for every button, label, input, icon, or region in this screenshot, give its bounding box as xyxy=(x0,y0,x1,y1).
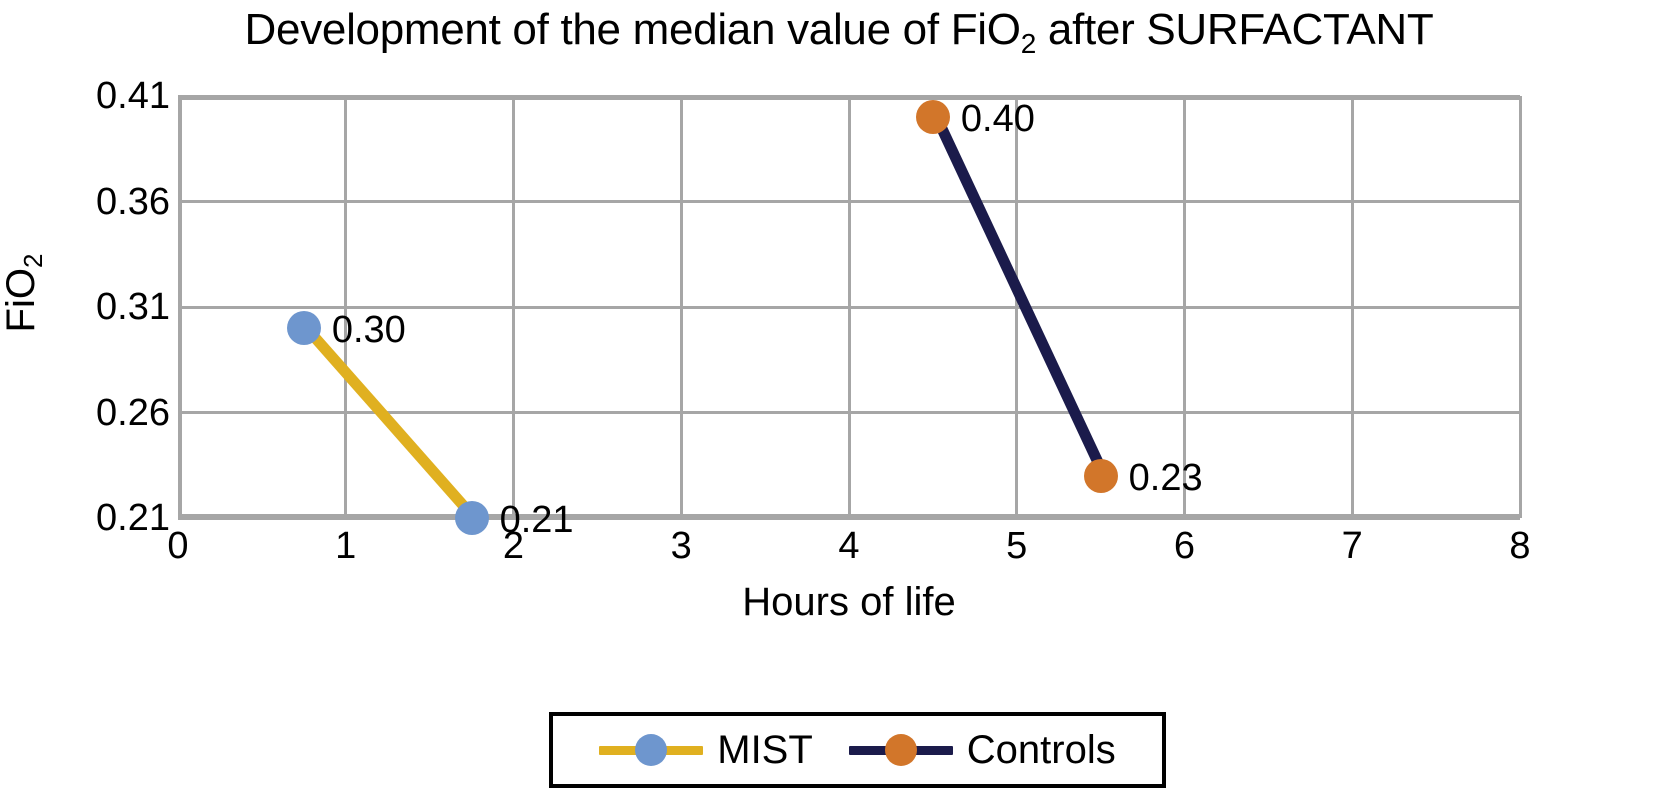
x-axis-tick-label: 4 xyxy=(809,524,889,568)
plot-area: 0.300.210.400.23 xyxy=(178,96,1520,518)
y-axis-tick-label: 0.31 xyxy=(10,285,170,329)
chart-title-prefix: Development of the median value of FiO xyxy=(245,5,1021,54)
x-axis-tick-label: 8 xyxy=(1480,524,1560,568)
legend-label: Controls xyxy=(967,727,1116,773)
data-point-marker-controls xyxy=(1084,459,1118,493)
data-point-label: 0.40 xyxy=(961,97,1035,141)
x-axis-tick-label: 6 xyxy=(1145,524,1225,568)
x-axis-tick-label: 0 xyxy=(138,524,218,568)
chart-title: Development of the median value of FiO2 … xyxy=(0,2,1678,63)
data-point-marker-mist xyxy=(287,311,321,345)
legend-marker-icon xyxy=(885,734,917,766)
legend-item-controls[interactable]: Controls xyxy=(849,727,1116,773)
chart-title-suffix: after SURFACTANT xyxy=(1036,5,1433,54)
x-axis-tick-label: 2 xyxy=(474,524,554,568)
y-axis-tick-label: 0.36 xyxy=(10,180,170,224)
legend-swatch-icon xyxy=(599,732,703,768)
x-axis-tick-label: 3 xyxy=(641,524,721,568)
x-axis-tick-label: 7 xyxy=(1312,524,1392,568)
legend-label: MIST xyxy=(717,727,813,773)
y-axis-tick-label: 0.41 xyxy=(10,74,170,118)
legend-marker-icon xyxy=(635,734,667,766)
chart-title-subscript: 2 xyxy=(1021,28,1036,59)
y-axis-line xyxy=(178,96,182,518)
gridline-horizontal xyxy=(178,200,1520,203)
y-axis-tick-label: 0.26 xyxy=(10,391,170,435)
legend-swatch-icon xyxy=(849,732,953,768)
x-axis-tick-label: 5 xyxy=(977,524,1057,568)
chart-figure: Development of the median value of FiO2 … xyxy=(0,0,1678,800)
chart-legend: MISTControls xyxy=(549,712,1166,788)
data-point-label: 0.30 xyxy=(332,308,406,352)
data-point-marker-controls xyxy=(916,100,950,134)
x-axis-tick-labels: 012345678 xyxy=(178,524,1520,574)
legend-item-mist[interactable]: MIST xyxy=(599,727,813,773)
gridline-horizontal xyxy=(178,517,1520,520)
y-axis-tick-labels: 0.410.360.310.260.21 xyxy=(0,0,170,800)
gridline-horizontal xyxy=(178,95,1520,98)
x-axis-title: Hours of life xyxy=(178,578,1520,626)
x-axis-tick-label: 1 xyxy=(306,524,386,568)
data-point-label: 0.23 xyxy=(1129,456,1203,500)
